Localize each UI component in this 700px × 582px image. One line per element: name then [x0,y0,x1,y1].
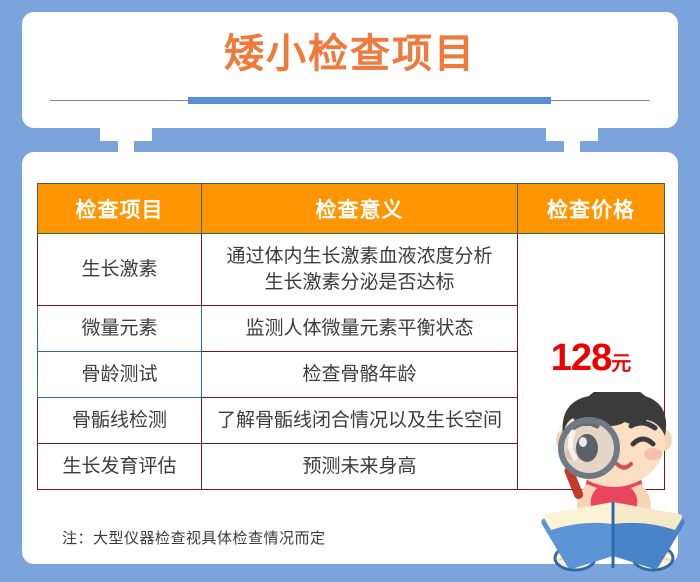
exam-table: 检查项目 检查意义 检查价格 生长激素 通过体内生长激素血液浓度分析 生长激素分… [37,183,665,490]
exam-table-wrapper: 检查项目 检查意义 检查价格 生长激素 通过体内生长激素血液浓度分析 生长激素分… [37,183,664,490]
cell-meaning: 了解骨骺线闭合情况以及生长空间 [202,398,518,444]
cell-item: 生长发育评估 [38,444,202,490]
column-header-meaning: 检查意义 [202,184,518,234]
connector-right-bar [546,128,598,141]
column-header-price: 检查价格 [518,184,665,234]
cell-item: 骨龄测试 [38,352,202,398]
price-value: 128 [551,337,611,379]
cell-meaning: 监测人体微量元素平衡状态 [202,306,518,352]
page-title: 矮小检查项目 [22,28,678,80]
main-card: 检查项目 检查意义 检查价格 生长激素 通过体内生长激素血液浓度分析 生长激素分… [22,152,678,564]
table-row: 生长激素 通过体内生长激素血液浓度分析 生长激素分泌是否达标 128元 [38,234,665,306]
title-divider-accent [188,97,551,104]
cell-item: 骨骺线检测 [38,398,202,444]
cell-meaning: 预测未来身高 [202,444,518,490]
cell-meaning: 通过体内生长激素血液浓度分析 生长激素分泌是否达标 [202,234,518,306]
cell-meaning: 检查骨骼年龄 [202,352,518,398]
cell-item: 微量元素 [38,306,202,352]
cell-price: 128元 [518,234,665,490]
price-unit: 元 [611,353,631,375]
column-header-item: 检查项目 [38,184,202,234]
footnote: 注：大型仪器检查视具体检查情况而定 [62,527,326,548]
title-card: 矮小检查项目 [22,12,678,128]
table-header-row: 检查项目 检查意义 检查价格 [38,184,665,234]
cell-item: 生长激素 [38,234,202,306]
connector-left-bar [100,128,152,141]
